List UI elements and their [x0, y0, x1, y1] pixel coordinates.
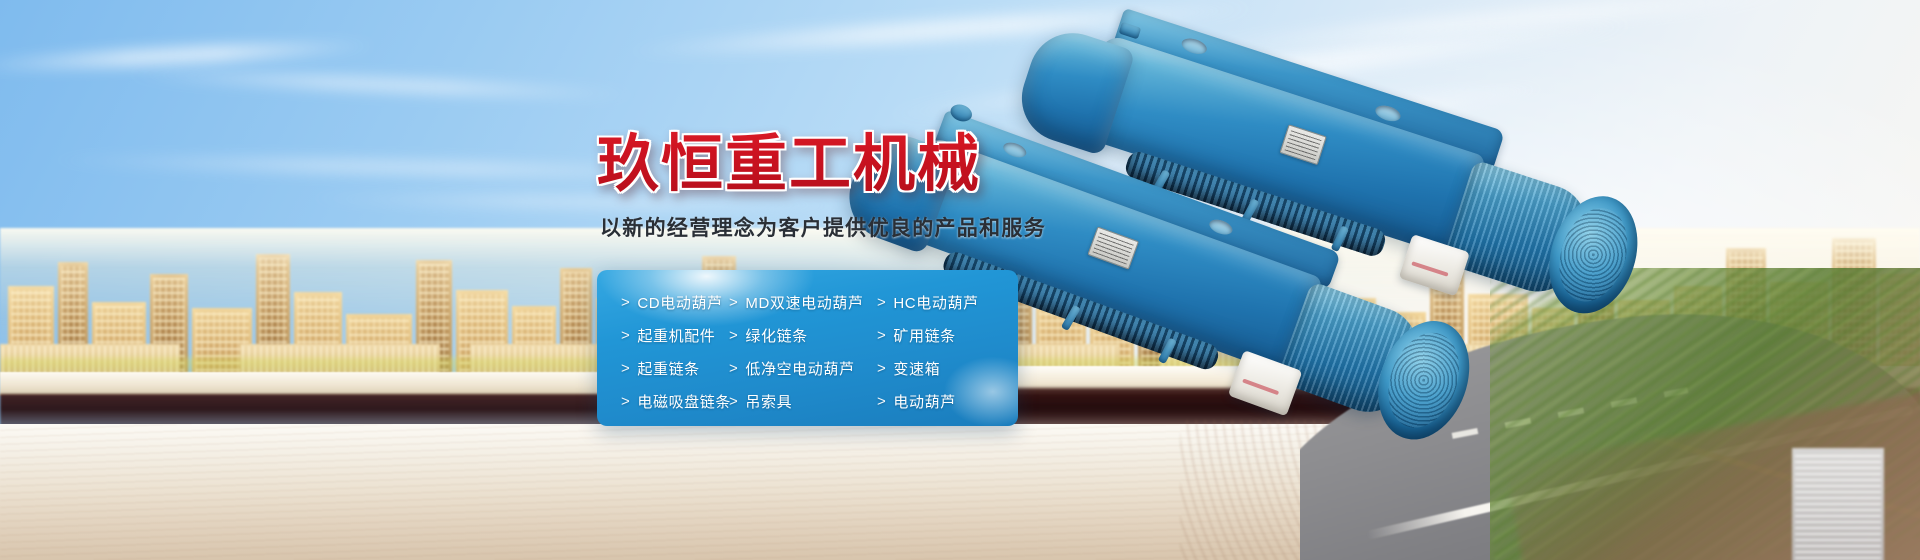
product-link-gearbox[interactable]: > 变速箱 [871, 352, 1018, 385]
chevron-right-icon: > [729, 393, 738, 410]
product-link-label: 起重链条 [637, 358, 699, 379]
chevron-right-icon: > [729, 294, 738, 311]
product-link-label: 绿化链条 [745, 325, 807, 346]
product-link-label: 起重机配件 [637, 325, 715, 346]
product-link-label: 电动葫芦 [893, 391, 955, 412]
product-links-panel: > CD电动葫芦 > MD双速电动葫芦 > HC电动葫芦 > 起重机配件 > 绿… [597, 270, 1018, 426]
product-link-label: 变速箱 [893, 358, 940, 379]
product-link-slings[interactable]: > 吊索具 [729, 385, 871, 418]
product-link-crane-parts[interactable]: > 起重机配件 [621, 319, 729, 352]
product-link-greening-chain[interactable]: > 绿化链条 [729, 319, 871, 352]
product-link-magnetic-chuck-chain[interactable]: > 电磁吸盘链条 [621, 385, 729, 418]
product-link-electric-hoist[interactable]: > 电动葫芦 [871, 385, 1018, 418]
chevron-right-icon: > [729, 327, 738, 344]
chevron-right-icon: > [877, 294, 886, 311]
hero-banner: 玖恒重工机械 以新的经营理念为客户提供优良的产品和服务 > CD电动葫芦 > M… [0, 0, 1920, 560]
product-link-hc-hoist[interactable]: > HC电动葫芦 [871, 286, 1018, 319]
chevron-right-icon: > [621, 360, 630, 377]
product-link-label: CD电动葫芦 [637, 292, 722, 313]
chevron-right-icon: > [877, 393, 886, 410]
product-link-label: 电磁吸盘链条 [637, 391, 731, 412]
product-link-label: 矿用链条 [893, 325, 955, 346]
company-title: 玖恒重工机械 [597, 113, 981, 203]
chevron-right-icon: > [877, 327, 886, 344]
chevron-right-icon: > [729, 360, 738, 377]
chevron-right-icon: > [621, 327, 630, 344]
chevron-right-icon: > [621, 294, 630, 311]
chevron-right-icon: > [877, 360, 886, 377]
product-link-mining-chain[interactable]: > 矿用链条 [871, 319, 1018, 352]
company-slogan: 以新的经营理念为客户提供优良的产品和服务 [600, 212, 1046, 242]
cloud-wisp [0, 37, 380, 75]
distant-tower [1792, 448, 1884, 560]
product-links-grid: > CD电动葫芦 > MD双速电动葫芦 > HC电动葫芦 > 起重机配件 > 绿… [597, 270, 1018, 426]
product-link-label: MD双速电动葫芦 [745, 292, 863, 313]
product-link-label: 低净空电动葫芦 [745, 358, 854, 379]
product-link-low-headroom-hoist[interactable]: > 低净空电动葫芦 [729, 352, 871, 385]
cloud-wisp [120, 67, 640, 102]
product-link-label: 吊索具 [745, 391, 792, 412]
product-link-md-dual-speed-hoist[interactable]: > MD双速电动葫芦 [729, 286, 871, 319]
product-link-label: HC电动葫芦 [893, 292, 978, 313]
product-link-lifting-chain[interactable]: > 起重链条 [621, 352, 729, 385]
chevron-right-icon: > [621, 393, 630, 410]
product-link-cd-hoist[interactable]: > CD电动葫芦 [621, 286, 729, 319]
